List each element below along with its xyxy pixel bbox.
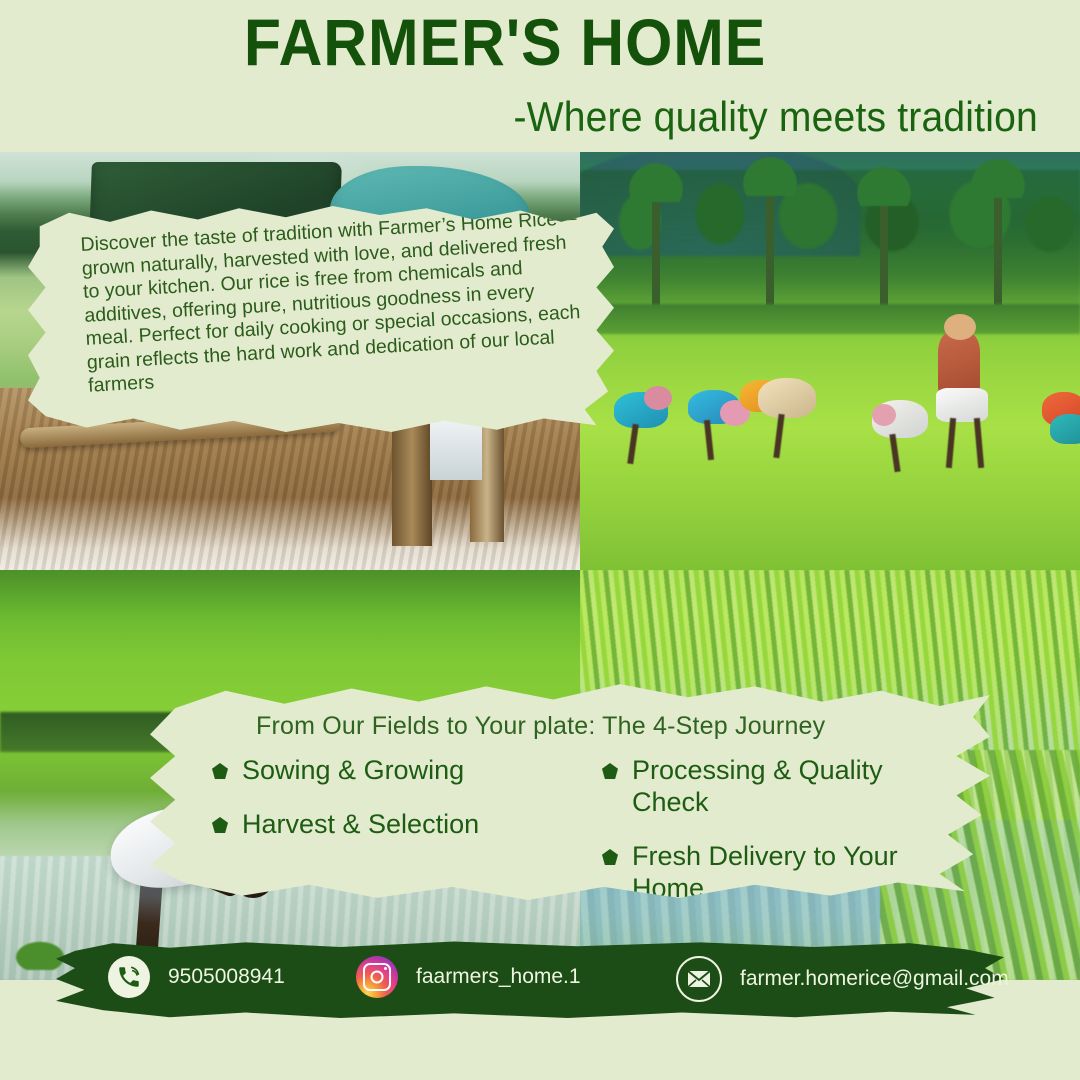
poster-header: FARMER'S HOME -Where quality meets tradi… — [0, 0, 1080, 152]
phone-icon — [108, 956, 150, 998]
step-item: Processing & Quality Check — [602, 754, 992, 818]
contact-instagram[interactable]: faarmers_home.1 — [356, 956, 581, 998]
step-label: Sowing & Growing — [242, 754, 464, 786]
pentagon-bullet-icon — [602, 763, 618, 779]
step-label: Processing & Quality Check — [632, 754, 962, 818]
poster-canvas: FARMER'S HOME -Where quality meets tradi… — [0, 0, 1080, 1080]
pentagon-bullet-icon — [212, 763, 228, 779]
step-label: Harvest & Selection — [242, 808, 479, 840]
steps-heading: From Our Fields to Your plate: The 4-Ste… — [256, 712, 825, 741]
envelope-icon — [676, 956, 722, 1002]
contact-email[interactable]: farmer.homerice@gmail.com — [676, 956, 1009, 1002]
email-label: farmer.homerice@gmail.com — [740, 967, 1009, 991]
footer-contacts: 9505008941 faarmers_home.1 farmer.homeri… — [56, 940, 1004, 1018]
brand-tagline: -Where quality meets tradition — [514, 93, 1038, 141]
intro-card: Discover the taste of tradition with Far… — [28, 206, 614, 432]
contact-phone[interactable]: 9505008941 — [108, 956, 285, 998]
brand-title: FARMER'S HOME — [40, 8, 969, 77]
intro-paragraph: Discover the taste of tradition with Far… — [80, 207, 588, 398]
step-item: Harvest & Selection — [212, 808, 602, 840]
steps-card: From Our Fields to Your plate: The 4-Ste… — [150, 682, 990, 900]
pentagon-bullet-icon — [212, 817, 228, 833]
paddy-field-workers-photo — [580, 152, 1080, 570]
instagram-icon — [356, 956, 398, 998]
step-item: Sowing & Growing — [212, 754, 602, 786]
pentagon-bullet-icon — [602, 849, 618, 865]
instagram-label: faarmers_home.1 — [416, 965, 581, 989]
phone-label: 9505008941 — [168, 965, 285, 989]
